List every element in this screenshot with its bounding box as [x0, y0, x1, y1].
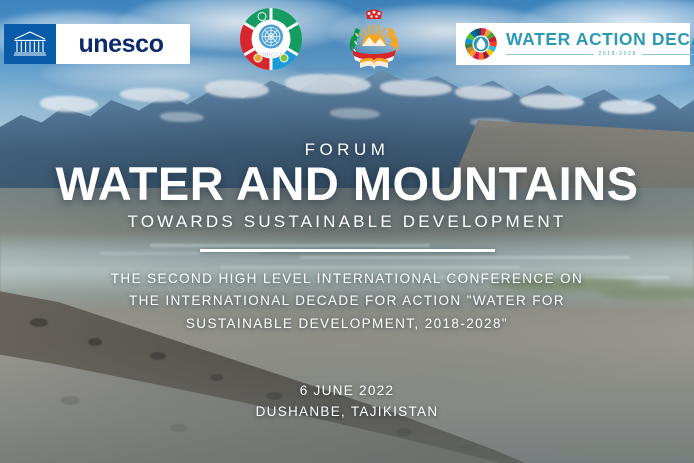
divider [200, 249, 495, 252]
forum-poster: unesco [0, 0, 694, 463]
date-location: 6 JUNE 2022 DUSHANBE, TAJIKISTAN [0, 381, 694, 423]
conference-description: THE SECOND HIGH LEVEL INTERNATIONAL CONF… [97, 268, 597, 335]
event-date: 6 JUNE 2022 [0, 381, 694, 402]
hero-content: FORUM WATER AND MOUNTAINS TOWARDS SUSTAI… [0, 0, 694, 463]
event-location: DUSHANBE, TAJIKISTAN [0, 402, 694, 423]
page-title: WATER AND MOUNTAINS [0, 158, 694, 210]
hero-tagline: TOWARDS SUSTAINABLE DEVELOPMENT [0, 212, 694, 232]
